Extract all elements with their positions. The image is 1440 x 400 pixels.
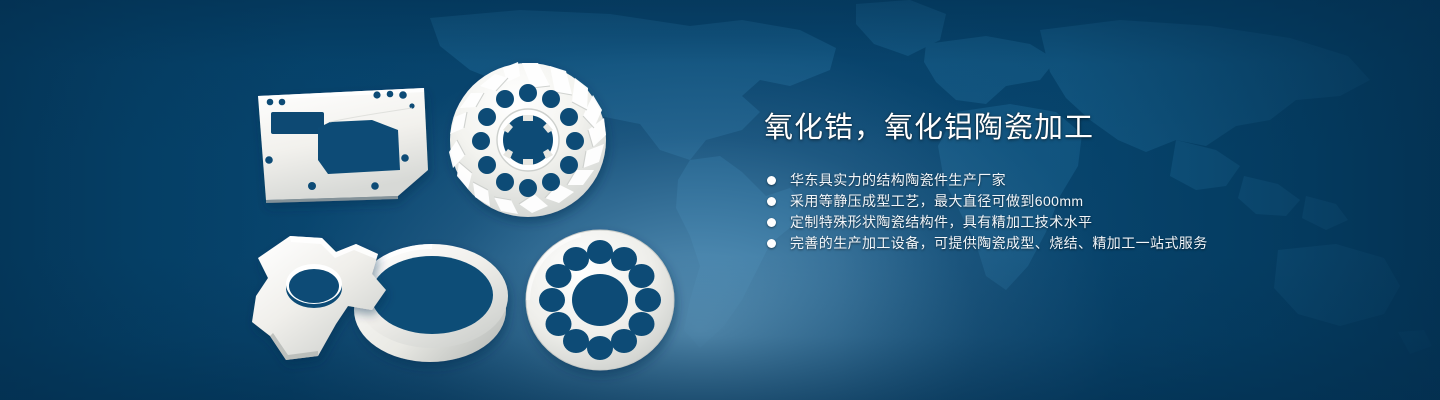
- list-item: 采用等静压成型工艺，最大直径可做到600mm: [767, 191, 1324, 212]
- feature-list: 华东具实力的结构陶瓷件生产厂家 采用等静压成型工艺，最大直径可做到600mm 定…: [767, 170, 1324, 254]
- banner-copy: 氧化锆，氧化铝陶瓷加工 华东具实力的结构陶瓷件生产厂家 采用等静压成型工艺，最大…: [764, 108, 1324, 254]
- list-item-label: 定制特殊形状陶瓷结构件，具有精加工技术水平: [790, 214, 1092, 230]
- hero-banner: 氧化锆，氧化铝陶瓷加工 华东具实力的结构陶瓷件生产厂家 采用等静压成型工艺，最大…: [0, 0, 1440, 400]
- ceramic-perforated-disc: [526, 230, 674, 370]
- page-title: 氧化锆，氧化铝陶瓷加工: [764, 108, 1324, 148]
- ceramic-rings: [354, 244, 508, 362]
- ceramic-cross-plate: [252, 236, 386, 360]
- list-item-label: 采用等静压成型工艺，最大直径可做到600mm: [790, 193, 1083, 209]
- bullet-dot-icon: [767, 197, 776, 206]
- list-item-label: 华东具实力的结构陶瓷件生产厂家: [790, 172, 1006, 188]
- bullet-dot-icon: [767, 176, 776, 185]
- ceramic-parts-artwork: [0, 0, 740, 400]
- bullet-dot-icon: [767, 239, 776, 248]
- ceramic-machined-plate: [258, 88, 428, 203]
- list-item: 定制特殊形状陶瓷结构件，具有精加工技术水平: [767, 212, 1324, 233]
- list-item-label: 完善的生产加工设备，可提供陶瓷成型、烧结、精加工一站式服务: [790, 235, 1208, 251]
- list-item: 华东具实力的结构陶瓷件生产厂家: [767, 170, 1324, 191]
- list-item: 完善的生产加工设备，可提供陶瓷成型、烧结、精加工一站式服务: [767, 233, 1324, 254]
- bullet-dot-icon: [767, 218, 776, 227]
- ceramic-impeller-disc: [449, 62, 606, 217]
